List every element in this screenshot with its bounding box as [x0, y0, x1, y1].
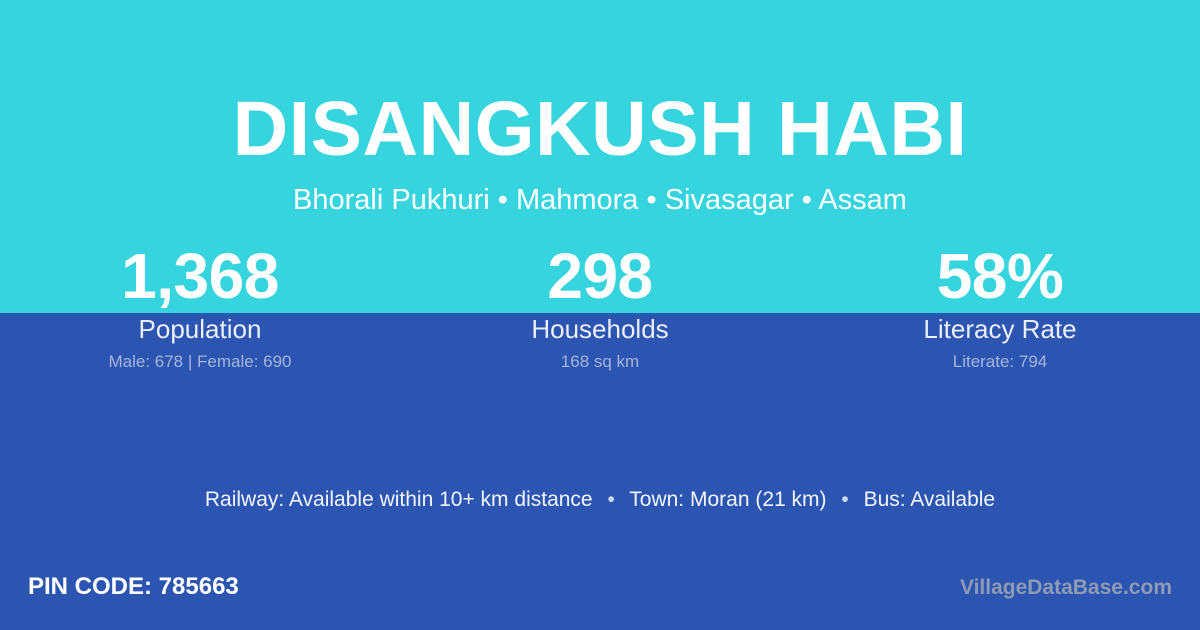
stat-sublabel: 168 sq km — [400, 351, 800, 372]
stat-literacy-rate: 58% Literacy Rate Literate: 794 — [800, 240, 1200, 372]
pin-code: PIN CODE: 785663 — [28, 572, 239, 602]
infra-bus: Bus: Available — [864, 488, 996, 511]
stat-label: Households — [400, 314, 800, 344]
footer: PIN CODE: 785663 VillageDataBase.com — [0, 572, 1200, 612]
stat-value: 298 — [400, 240, 800, 312]
stat-value: 1,368 — [0, 240, 400, 312]
infra-railway: Railway: Available within 10+ km distanc… — [205, 488, 593, 511]
page-title: DISANGKUSH HABI — [0, 86, 1200, 172]
infrastructure-line: Railway: Available within 10+ km distanc… — [0, 486, 1200, 513]
village-info-card: DISANGKUSH HABI Bhorali Pukhuri • Mahmor… — [0, 0, 1200, 630]
stat-households: 298 Households 168 sq km — [400, 240, 800, 372]
stat-value: 58% — [800, 240, 1200, 312]
stat-sublabel: Male: 678 | Female: 690 — [0, 351, 400, 372]
breadcrumb-subtitle: Bhorali Pukhuri • Mahmora • Sivasagar • … — [0, 183, 1200, 217]
stats-row: 1,368 Population Male: 678 | Female: 690… — [0, 240, 1200, 372]
stat-label: Literacy Rate — [800, 314, 1200, 344]
stat-sublabel: Literate: 794 — [800, 351, 1200, 372]
infra-separator: • — [832, 486, 857, 513]
brand-watermark: VillageDataBase.com — [960, 574, 1172, 602]
stat-label: Population — [0, 314, 400, 344]
infra-separator: • — [598, 486, 623, 513]
stat-population: 1,368 Population Male: 678 | Female: 690 — [0, 240, 400, 372]
infra-town: Town: Moran (21 km) — [629, 488, 826, 511]
